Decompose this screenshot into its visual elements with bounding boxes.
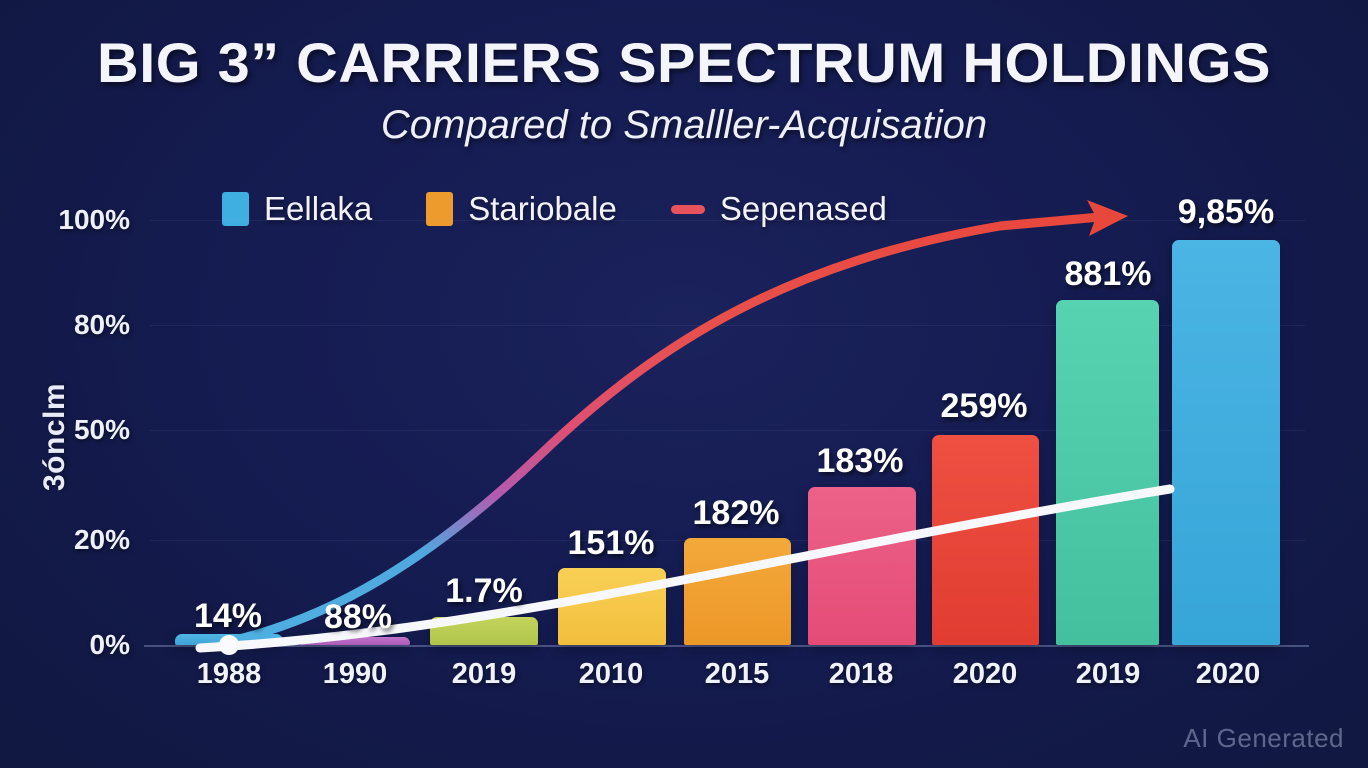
y-tick-label: 20% xyxy=(10,524,130,556)
x-tick-label: 2010 xyxy=(541,658,681,691)
x-tick-label: 2019 xyxy=(414,658,554,691)
bar-1[interactable] xyxy=(300,637,410,645)
bar-label-6: 259% xyxy=(884,387,1084,426)
bar-label-7: 881% xyxy=(1008,255,1208,294)
x-axis-line xyxy=(144,645,1309,647)
sepenased-arrowhead xyxy=(1087,200,1128,236)
y-tick-label: 80% xyxy=(10,309,130,341)
x-tick-label: 2020 xyxy=(915,658,1055,691)
watermark-label: AI Generated xyxy=(1183,723,1344,754)
series-overlay xyxy=(0,0,1368,768)
x-tick-label: 2018 xyxy=(791,658,931,691)
plot-area: 100% 80% 50% 20% 0% 3ónclm xyxy=(0,0,1368,768)
x-tick-label: 2015 xyxy=(667,658,807,691)
chart-canvas: BIG 3” CARRIERS SPECTRUM HOLDINGS Compar… xyxy=(0,0,1368,768)
x-tick-label: 1988 xyxy=(159,658,299,691)
x-tick-label: 1990 xyxy=(285,658,425,691)
y-axis-title: 3ónclm xyxy=(38,347,72,527)
bar-label-8: 9,85% xyxy=(1126,193,1326,232)
bar-8[interactable] xyxy=(1172,240,1280,645)
bar-label-5: 183% xyxy=(760,442,960,481)
bar-label-4: 182% xyxy=(636,494,836,533)
bar-label-2: 1.7% xyxy=(384,572,584,611)
x-tick-label: 2019 xyxy=(1038,658,1178,691)
y-tick-label: 100% xyxy=(10,204,130,236)
y-tick-label: 0% xyxy=(10,629,130,661)
x-tick-label: 2020 xyxy=(1158,658,1298,691)
bar-7[interactable] xyxy=(1056,300,1159,645)
